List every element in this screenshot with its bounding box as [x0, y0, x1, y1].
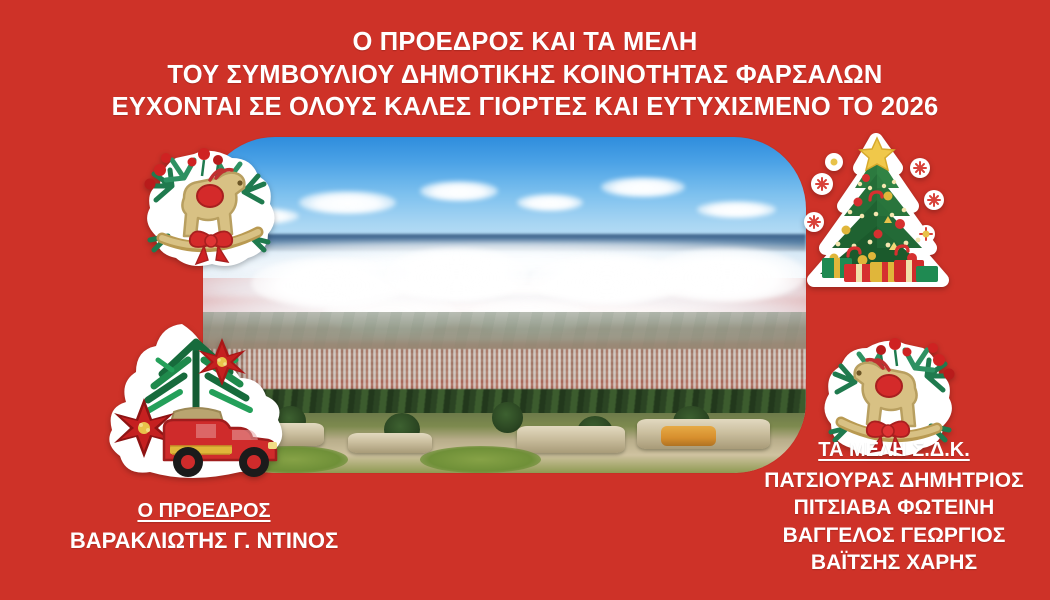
- headline-line-2: ΤΟΥ ΣΥΜΒΟΥΛΙΟΥ ΔΗΜΟΤΙΚΗΣ ΚΟΙΝΟΤΗΤΑΣ ΦΑΡΣ…: [0, 59, 1050, 92]
- headline-block: Ο ΠΡΟΕΔΡΟΣ ΚΑΙ ΤΑ ΜΕΛΗ ΤΟΥ ΣΥΜΒΟΥΛΙΟΥ ΔΗ…: [0, 26, 1050, 124]
- cloud-puff: [299, 191, 395, 215]
- president-title: Ο ΠΡΟΕΔΡΟΣ: [28, 500, 380, 523]
- photo-rock: [517, 426, 626, 453]
- photo-rock: [348, 433, 432, 453]
- president-name: ΒΑΡΑΚΛΙΩΤΗΣ Γ. ΝΤΙΝΟΣ: [28, 528, 380, 554]
- cloud-puff: [649, 248, 806, 302]
- president-block: Ο ΠΡΟΕΔΡΟΣ ΒΑΡΑΚΛΙΩΤΗΣ Γ. ΝΤΙΝΟΣ: [28, 500, 380, 554]
- photo-grass: [420, 446, 541, 473]
- cloud-puff: [517, 194, 583, 211]
- greeting-card: Ο ΠΡΟΕΔΡΟΣ ΚΑΙ ΤΑ ΜΕΛΗ ΤΟΥ ΣΥΜΒΟΥΛΙΟΥ ΔΗ…: [0, 0, 1050, 600]
- christmas-tree-sticker-top-right: [800, 138, 955, 298]
- headline-line-3: ΕΥΧΟΝΤΑΙ ΣΕ ΟΛΟΥΣ ΚΑΛΕΣ ΓΙΟΡΤΕΣ ΚΑΙ ΕΥΤΥ…: [0, 91, 1050, 124]
- member-name: ΠΑΤΣΙΟΥΡΑΣ ΔΗΜΗΤΡΙΟΣ: [738, 467, 1050, 494]
- members-title: ΤΑ ΜΕΛΗ Σ.Δ.Κ.: [738, 437, 1050, 463]
- member-name: ΠΙΤΣΙΑΒΑ ΦΩΤΕΙΝΗ: [738, 494, 1050, 521]
- red-truck-with-tree-sticker-bottom-left: [100, 320, 295, 488]
- member-name: ΒΑΪΤΣΗΣ ΧΑΡΗΣ: [738, 549, 1050, 576]
- members-block: ΤΑ ΜΕΛΗ Σ.Δ.Κ. ΠΑΤΣΙΟΥΡΑΣ ΔΗΜΗΤΡΙΟΣ ΠΙΤΣ…: [738, 437, 1050, 576]
- photo-ochre-rock: [661, 426, 715, 446]
- headline-line-1: Ο ΠΡΟΕΔΡΟΣ ΚΑΙ ΤΑ ΜΕΛΗ: [0, 26, 1050, 59]
- rocking-horse-sticker-top-left: [132, 140, 287, 272]
- cloud-puff: [420, 181, 498, 201]
- cloud-puff: [697, 201, 775, 218]
- member-name: ΒΑΓΓΕΛΟΣ ΓΕΩΡΓΙΟΣ: [738, 522, 1050, 549]
